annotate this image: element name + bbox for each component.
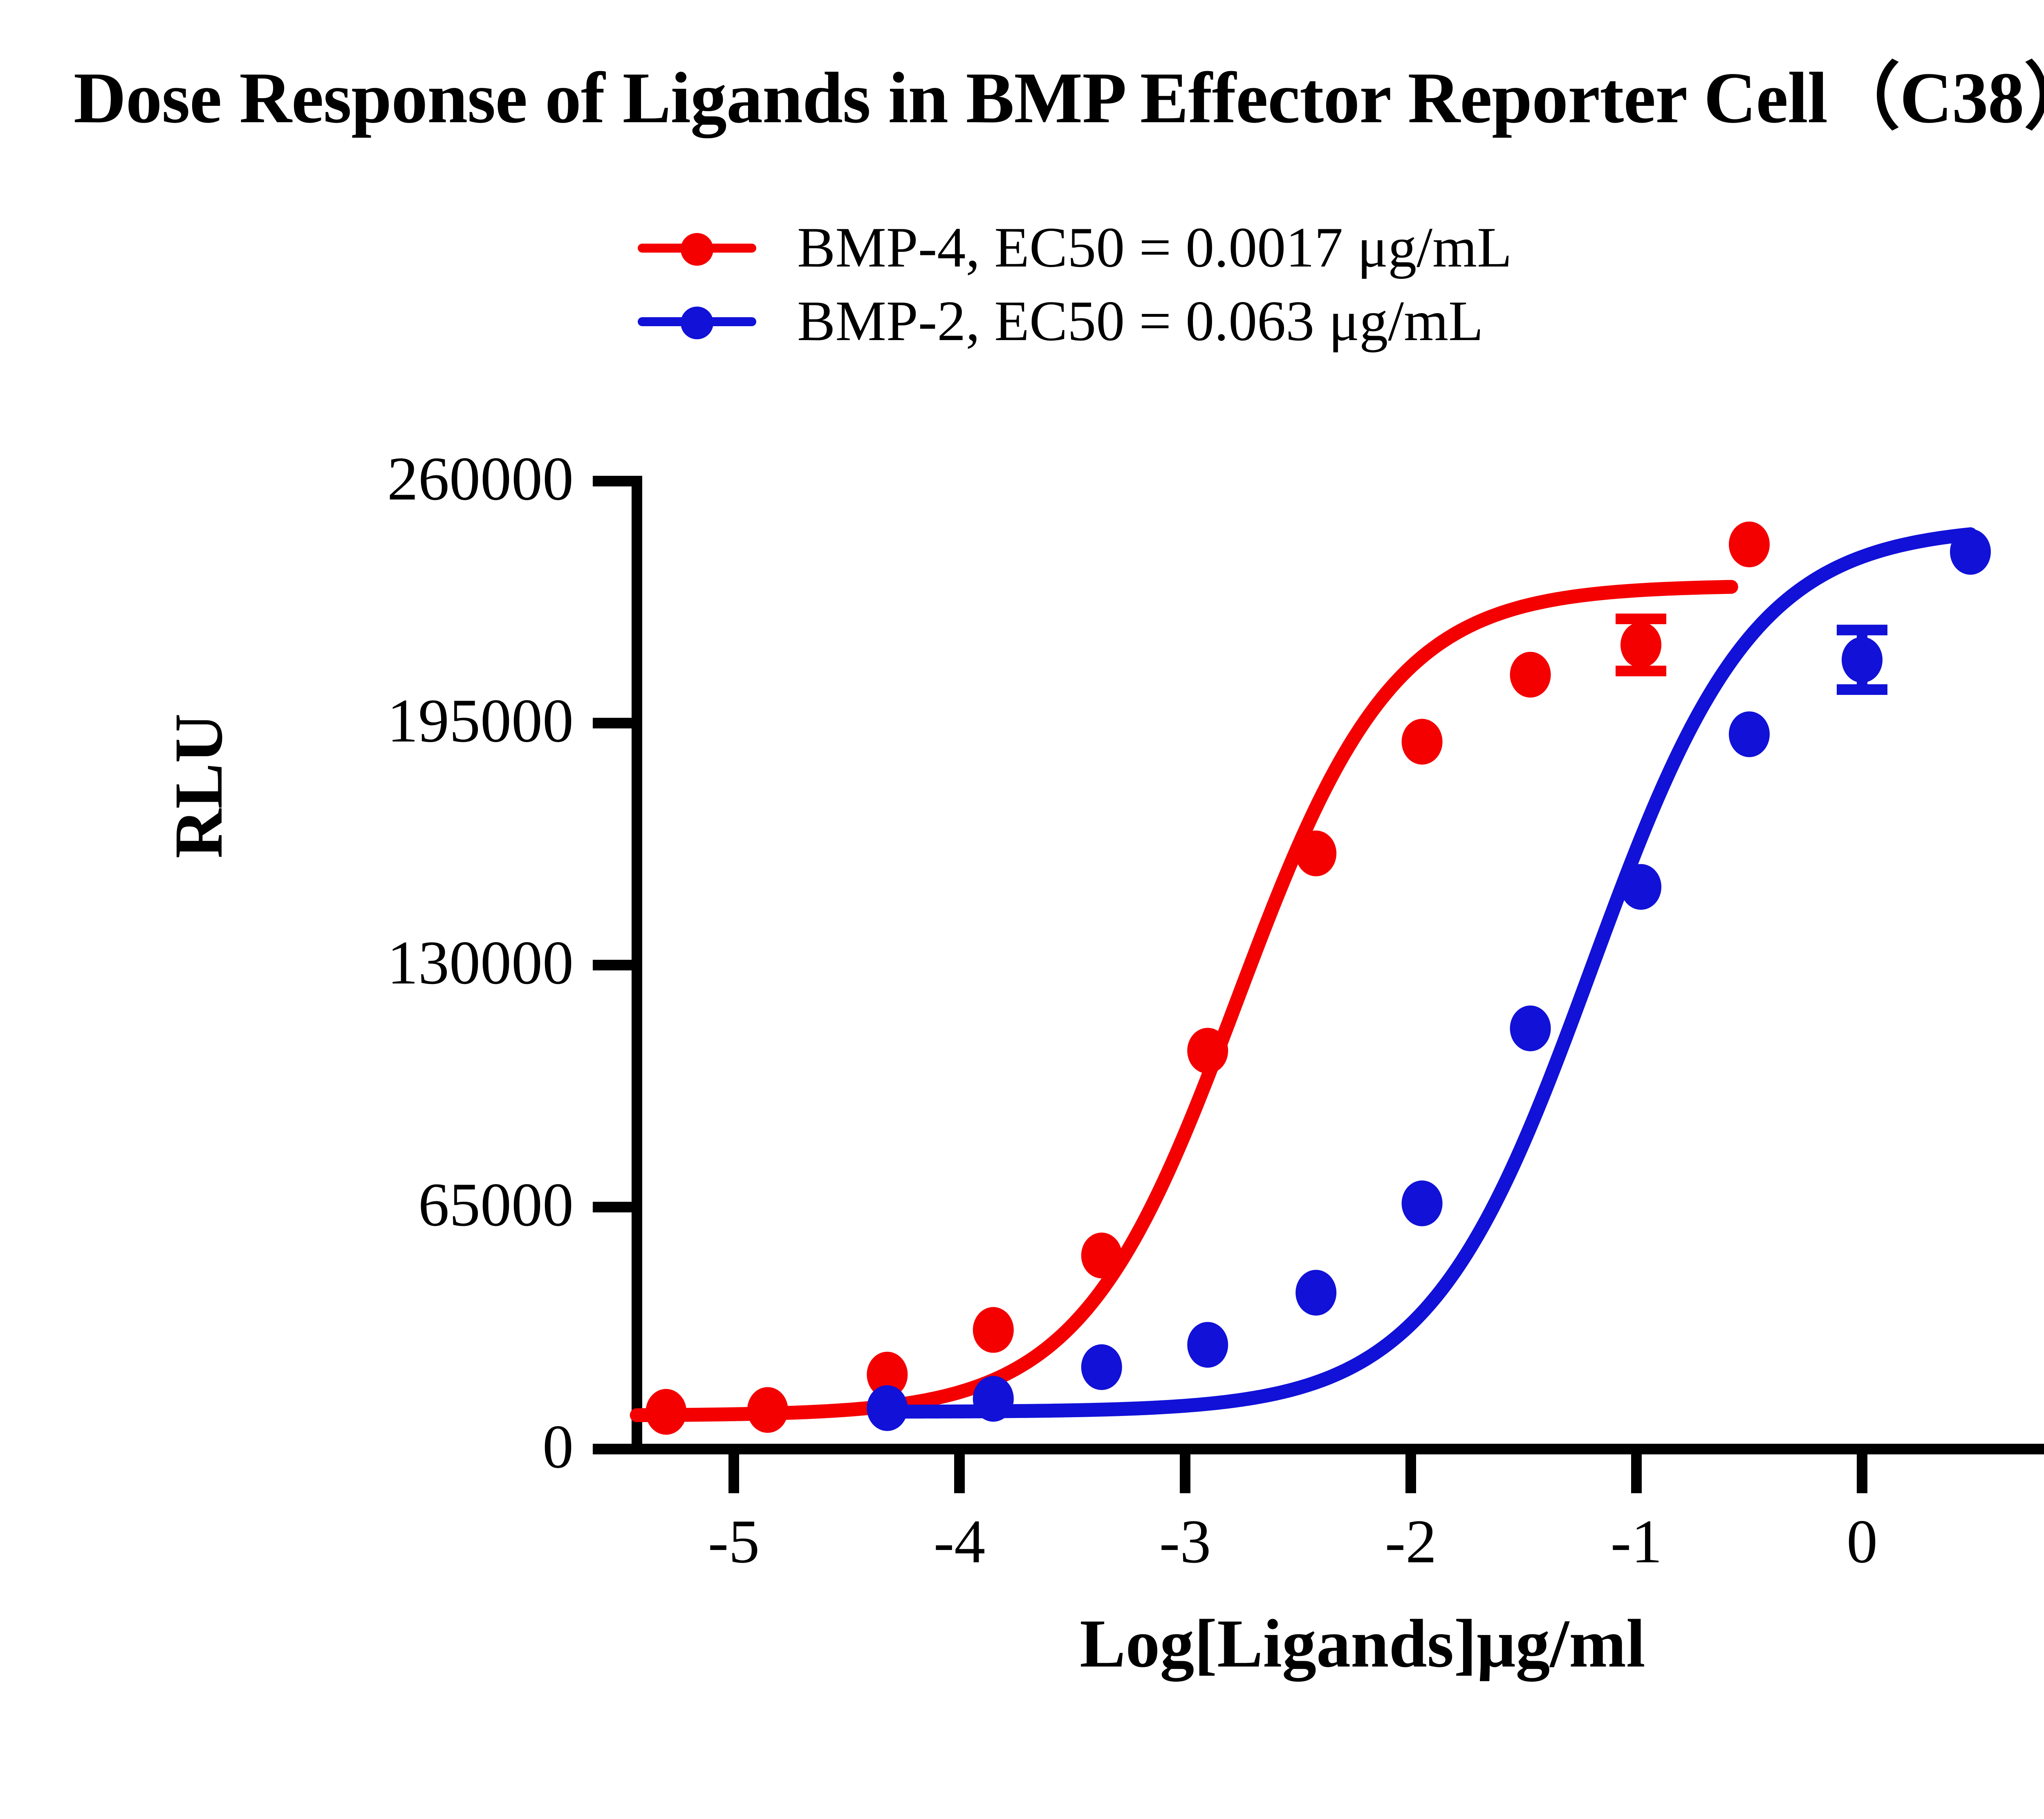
x-axis-title: Log[Ligands]μg/ml xyxy=(637,1604,2044,1683)
data-point xyxy=(973,1376,1014,1422)
plot-area: 065000130000195000260000 -5-4-3-2-101 Lo… xyxy=(0,0,2044,1819)
axes-group xyxy=(593,476,2044,1493)
y-tick-label: 0 xyxy=(206,1416,574,1478)
y-tick-label: 260000 xyxy=(206,448,574,510)
x-tick-label: 0 xyxy=(1801,1510,1923,1573)
x-tick-label: -3 xyxy=(1124,1510,1246,1573)
x-axis-tick xyxy=(954,1454,965,1493)
x-axis-tick xyxy=(1180,1454,1190,1493)
data-point xyxy=(645,1389,686,1435)
figure-root: Dose Response of Ligands in BMP Effector… xyxy=(0,0,2044,1819)
data-point xyxy=(1402,1181,1443,1226)
data-point xyxy=(1620,864,1661,910)
x-tick-label: -5 xyxy=(672,1510,795,1573)
y-tick-label: 65000 xyxy=(206,1174,574,1236)
y-axis-line xyxy=(632,476,642,1454)
x-axis-tick xyxy=(1631,1454,1642,1493)
x-axis-line xyxy=(632,1444,2044,1454)
x-axis-tick xyxy=(1405,1454,1416,1493)
y-tick-label: 195000 xyxy=(206,690,574,752)
fit-curve xyxy=(887,534,1970,1412)
data-point xyxy=(1295,1270,1336,1315)
data-point xyxy=(1842,637,1883,683)
data-point xyxy=(1081,1232,1122,1278)
data-point xyxy=(747,1387,788,1433)
y-axis-tick xyxy=(593,476,632,486)
x-tick-label: -4 xyxy=(898,1510,1021,1573)
y-axis-tick xyxy=(593,960,632,970)
data-point xyxy=(973,1307,1014,1353)
data-point xyxy=(1081,1344,1122,1390)
data-point xyxy=(1402,719,1443,765)
data-point xyxy=(1510,652,1551,698)
x-axis-tick xyxy=(728,1454,739,1493)
y-axis-tick xyxy=(593,718,632,728)
x-tick-label: 1 xyxy=(2026,1510,2044,1573)
data-point xyxy=(1729,522,1770,567)
x-tick-label: -1 xyxy=(1575,1510,1698,1573)
data-point xyxy=(1295,831,1336,876)
y-axis-tick xyxy=(593,1202,632,1212)
y-axis-tick xyxy=(593,1444,632,1454)
data-point xyxy=(1729,711,1770,757)
data-points-group xyxy=(645,522,1991,1435)
data-point xyxy=(1510,1006,1551,1051)
x-axis-tick xyxy=(1857,1454,1867,1493)
data-point xyxy=(1950,529,1991,575)
y-tick-label: 130000 xyxy=(206,932,574,994)
data-point xyxy=(1620,622,1661,668)
data-point xyxy=(1187,1322,1228,1368)
plot-canvas xyxy=(0,0,2044,1819)
x-tick-label: -2 xyxy=(1349,1510,1472,1573)
fit-curve xyxy=(637,587,1731,1415)
y-axis-title: RLU xyxy=(159,713,238,858)
data-point xyxy=(1187,1028,1228,1073)
data-point xyxy=(867,1385,908,1431)
